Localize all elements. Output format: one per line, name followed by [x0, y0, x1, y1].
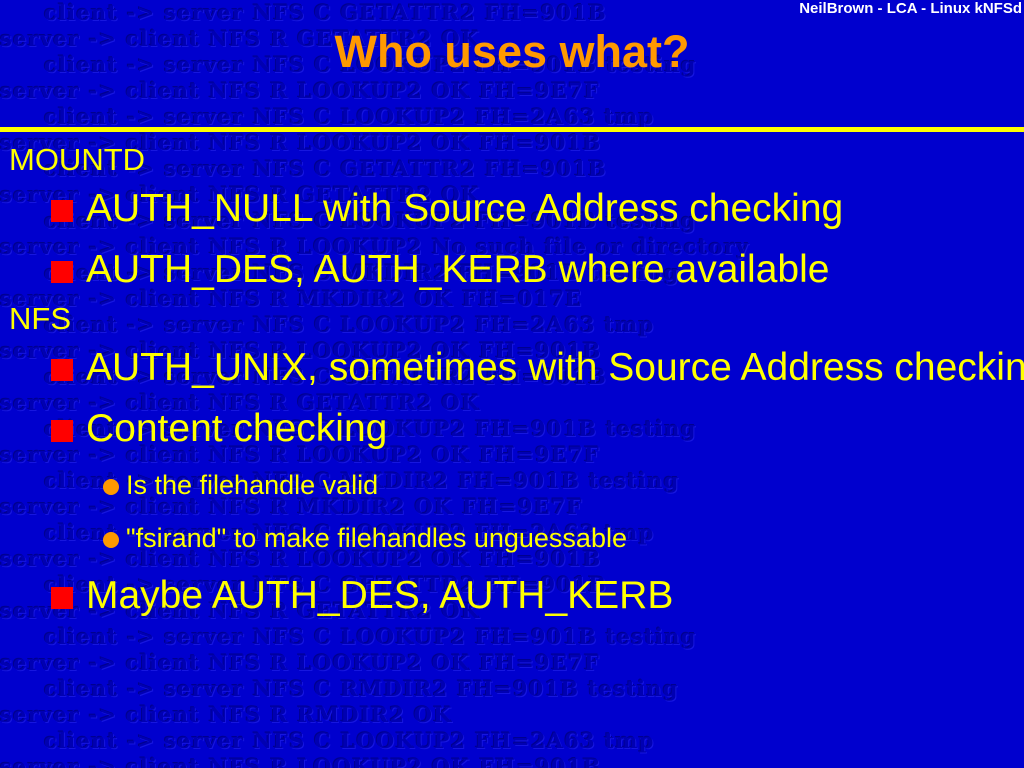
bullet-text: AUTH_DES, AUTH_KERB where available	[86, 239, 829, 300]
bullet-row-level-1: AUTH_NULL with Source Address checking	[0, 178, 1024, 239]
watermark-line: server -> client NFS R LOOKUP2 OK FH=9E7…	[0, 650, 1024, 676]
square-bullet-icon	[51, 200, 73, 222]
square-bullet-icon	[51, 420, 73, 442]
bullet-text: AUTH_UNIX, sometimes with Source Address…	[86, 337, 1024, 398]
bullet-row-level-1: AUTH_UNIX, sometimes with Source Address…	[0, 337, 1024, 398]
watermark-line: server -> client NFS R RMDIR2 OK	[0, 702, 1024, 728]
title-divider	[0, 127, 1024, 132]
bullet-text: AUTH_NULL with Source Address checking	[86, 178, 843, 239]
bullet-row-level-1: AUTH_DES, AUTH_KERB where available	[0, 239, 1024, 300]
slide-title: Who uses what?	[0, 26, 1024, 78]
bullet-text: Maybe AUTH_DES, AUTH_KERB	[86, 565, 673, 626]
bullet-row-level-0: MOUNTD	[0, 141, 1024, 178]
watermark-line: client -> server NFS C LOOKUP2 FH=2A63 t…	[0, 728, 1024, 754]
slide-header: NeilBrown - LCA - Linux kNFSd	[799, 0, 1022, 17]
bullet-text: "fsirand" to make filehandles unguessabl…	[126, 512, 627, 565]
bullet-row-level-1: Content checking	[0, 398, 1024, 459]
square-bullet-icon	[51, 587, 73, 609]
bullet-text: Content checking	[86, 398, 387, 459]
bullet-text: NFS	[9, 300, 71, 337]
square-bullet-icon	[51, 359, 73, 381]
bullet-row-level-1: Maybe AUTH_DES, AUTH_KERB	[0, 565, 1024, 626]
square-bullet-icon	[51, 261, 73, 283]
watermark-line: client -> server NFS C RMDIR2 FH=901B te…	[0, 676, 1024, 702]
slide-body: MOUNTDAUTH_NULL with Source Address chec…	[0, 141, 1024, 626]
watermark-line: server -> client NFS R LOOKUP2 OK FH=901…	[0, 754, 1024, 768]
bullet-row-level-0: NFS	[0, 300, 1024, 337]
presentation-slide: client -> server NFS C GETATTR2 FH=901Bs…	[0, 0, 1024, 768]
watermark-line: client -> server NFS C LOOKUP2 FH=901B t…	[0, 624, 1024, 650]
bullet-text: MOUNTD	[9, 141, 145, 178]
circle-bullet-icon	[103, 479, 119, 495]
bullet-row-level-2: Is the filehandle valid	[0, 459, 1024, 512]
watermark-line: server -> client NFS R LOOKUP2 OK FH=9E7…	[0, 78, 1024, 104]
bullet-row-level-2: "fsirand" to make filehandles unguessabl…	[0, 512, 1024, 565]
bullet-text: Is the filehandle valid	[126, 459, 378, 512]
circle-bullet-icon	[103, 532, 119, 548]
